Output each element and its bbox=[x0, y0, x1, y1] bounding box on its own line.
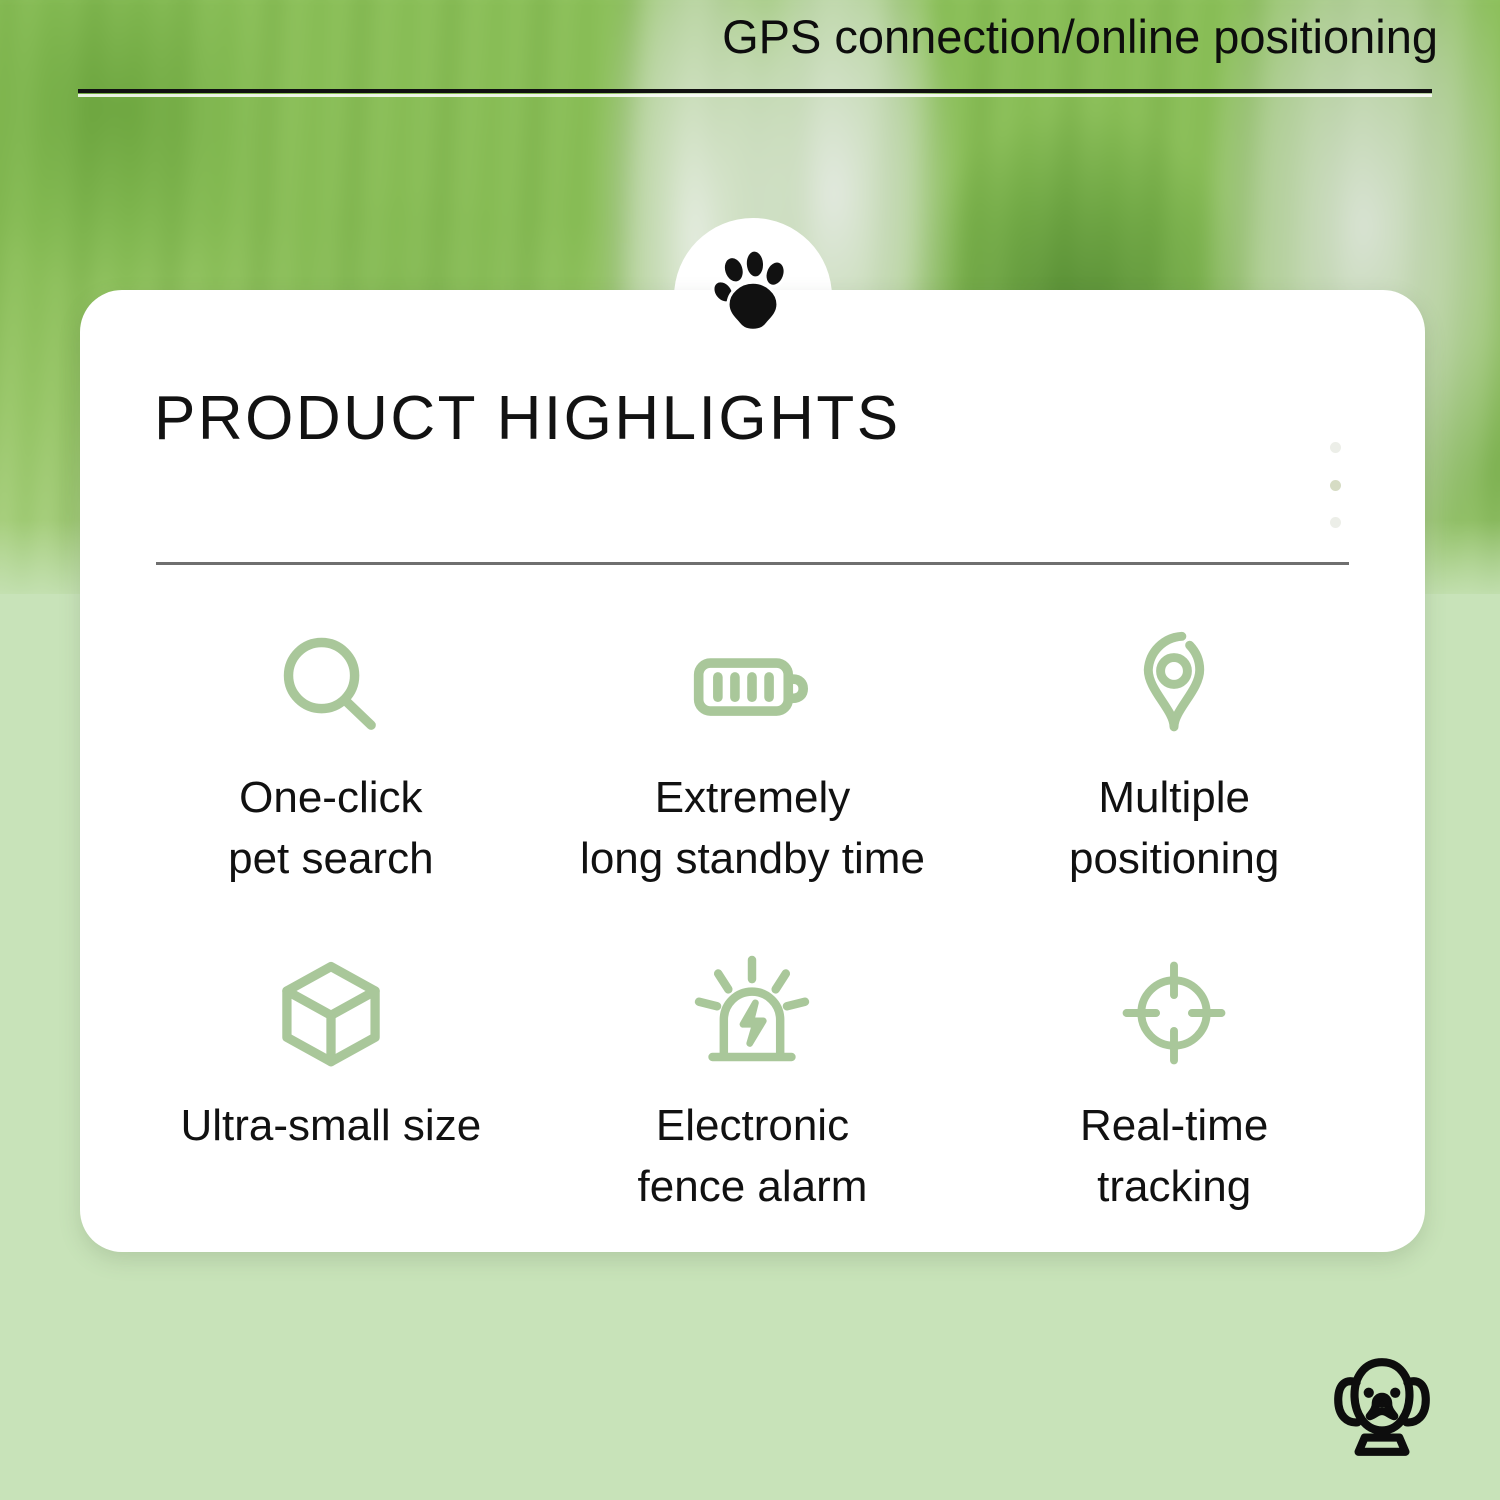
page-header: GPS connection/online positioning bbox=[0, 0, 1500, 110]
feature-item-ultra-small-size: Ultra-small size bbox=[120, 948, 542, 1248]
card-body: PRODUCT HIGHLIGHTS One-click pet sear bbox=[80, 290, 1425, 1252]
feature-item-one-click-pet-search: One-click pet search bbox=[120, 620, 542, 920]
search-icon bbox=[266, 620, 396, 750]
feature-label: Ultra-small size bbox=[180, 1096, 481, 1157]
feature-item-multiple-positioning: Multiple positioning bbox=[963, 620, 1385, 920]
feature-grid: One-click pet search bbox=[120, 620, 1385, 1248]
cube-icon bbox=[266, 948, 396, 1078]
crosshair-icon bbox=[1109, 948, 1239, 1078]
feature-label: Extremely long standby time bbox=[580, 768, 925, 889]
battery-icon bbox=[687, 620, 817, 750]
product-highlights-card: PRODUCT HIGHLIGHTS One-click pet sear bbox=[80, 218, 1425, 1258]
feature-label: Real-time tracking bbox=[1080, 1096, 1268, 1217]
kebab-dot-bottom bbox=[1330, 517, 1341, 528]
feature-label: Multiple positioning bbox=[1069, 768, 1279, 889]
feature-item-electronic-fence-alarm: Electronic fence alarm bbox=[542, 948, 964, 1248]
map-pin-icon bbox=[1109, 620, 1239, 750]
paw-print-icon bbox=[705, 240, 801, 336]
dog-face-icon bbox=[1326, 1350, 1438, 1462]
header-title: GPS connection/online positioning bbox=[722, 6, 1438, 67]
feature-label: Electronic fence alarm bbox=[638, 1096, 868, 1217]
feature-item-long-standby-time: Extremely long standby time bbox=[542, 620, 964, 920]
feature-label: One-click pet search bbox=[228, 768, 433, 889]
feature-item-real-time-tracking: Real-time tracking bbox=[963, 948, 1385, 1248]
title-divider bbox=[156, 562, 1349, 565]
header-rule-highlight bbox=[78, 94, 1432, 97]
kebab-dot-top bbox=[1330, 442, 1341, 453]
header-rule bbox=[78, 89, 1432, 93]
kebab-dot-middle bbox=[1330, 480, 1341, 491]
kebab-menu-icon[interactable] bbox=[1329, 442, 1341, 528]
alarm-siren-icon bbox=[687, 948, 817, 1078]
page-title: PRODUCT HIGHLIGHTS bbox=[154, 388, 901, 450]
